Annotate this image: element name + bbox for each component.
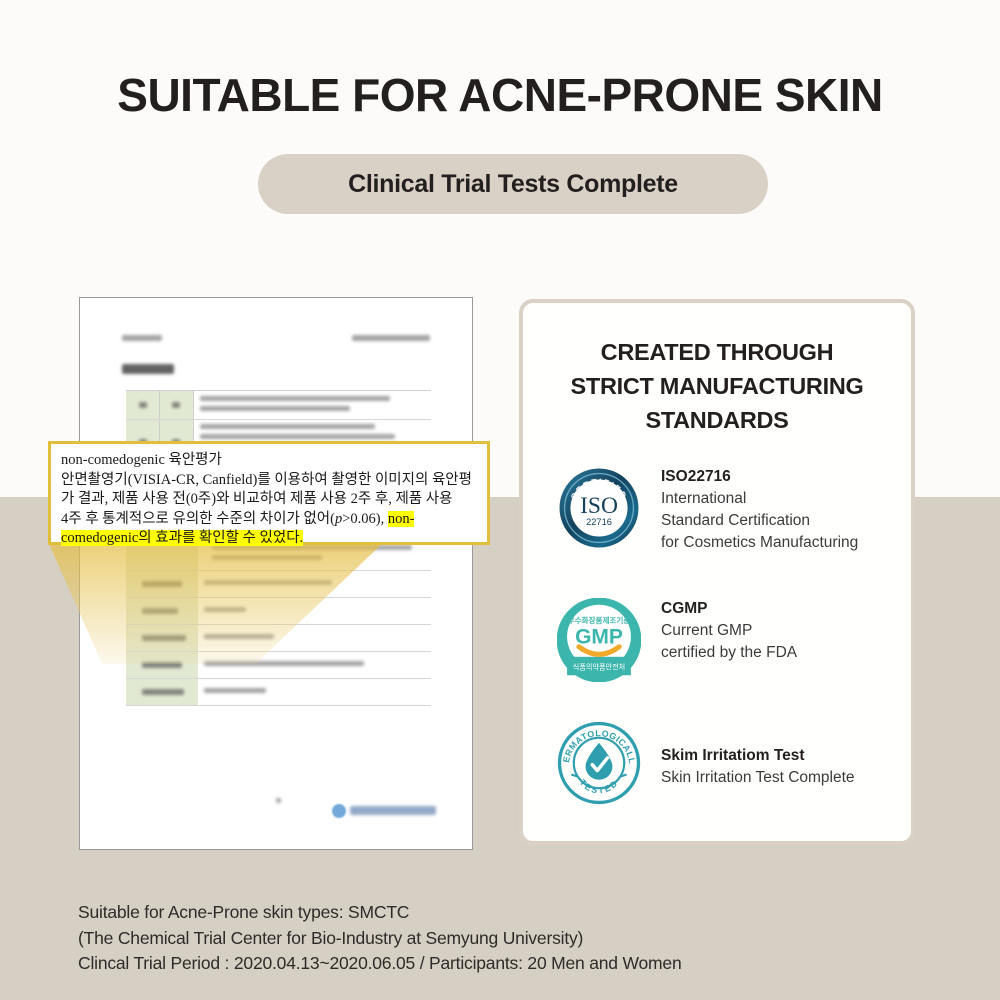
table-cell-label	[160, 391, 194, 419]
certification-item-dermatological: DERMATOLOGICALLY TESTED Skim Irritatiom …	[557, 721, 855, 805]
callout-box: non-comedogenic 육안평가 안면촬영기(VISIA-CR, Can…	[48, 441, 490, 545]
status-badge: Clinical Trial Tests Complete	[258, 154, 768, 214]
callout-line-2: 안면촬영기(VISIA-CR, Canfield)를 이용하여 촬영한 이미지의…	[61, 471, 477, 491]
callout-line-3: 가 결과, 제품 사용 전(0주)와 비교하여 제품 사용 2주 후, 제품 사…	[61, 490, 477, 510]
certification-desc-line: Skin Irritation Test Complete	[661, 767, 855, 789]
manufacturing-standards-panel: CREATED THROUGH STRICT MANUFACTURING STA…	[519, 299, 915, 845]
certification-desc-line: Standard Certification	[661, 510, 858, 532]
certification-text-cgmp: CGMP Current GMP certified by the FDA	[661, 598, 797, 664]
table-row	[126, 679, 431, 706]
trial-caption: Suitable for Acne-Prone skin types: SMCT…	[78, 900, 681, 977]
table-cell-label	[126, 391, 160, 419]
panel-title-line-2: STRICT MANUFACTURING	[571, 373, 864, 399]
svg-text:ISO: ISO	[580, 493, 618, 519]
svg-text:GMP: GMP	[575, 625, 623, 648]
cgmp-badge: 우수화장품제조기준 GMP 식품의약품안전처	[557, 598, 641, 682]
certification-title: Skim Irritatiom Test	[661, 745, 855, 767]
page-title: SUITABLE FOR ACNE-PRONE SKIN	[0, 68, 1000, 122]
caption-line-3: Clincal Trial Period : 2020.04.13~2020.0…	[78, 951, 681, 977]
panel-title-line-3: STANDARDS	[645, 407, 788, 433]
panel-title: CREATED THROUGH STRICT MANUFACTURING STA…	[523, 303, 911, 437]
table-cell-value	[198, 679, 431, 705]
certification-desc-line: for Cosmetics Manufacturing	[661, 532, 858, 554]
doc-page-number	[276, 798, 281, 803]
doc-section-title	[122, 364, 174, 374]
panel-title-line-1: CREATED THROUGH	[601, 339, 834, 365]
doc-organization-stamp	[332, 803, 437, 819]
certification-text-dermatological: Skim Irritatiom Test Skin Irritation Tes…	[661, 721, 855, 789]
svg-text:22716: 22716	[586, 517, 612, 527]
certification-desc-line: International	[661, 488, 858, 510]
certification-title: CGMP	[661, 598, 797, 620]
caption-line-2: (The Chemical Trial Center for Bio-Indus…	[78, 926, 681, 952]
stamp-text	[350, 806, 436, 815]
certification-desc-line: Current GMP	[661, 620, 797, 642]
svg-text:식품의약품안전처: 식품의약품안전처	[573, 662, 625, 671]
certification-title: ISO22716	[661, 466, 858, 488]
stamp-logo-icon	[332, 804, 346, 818]
table-cell-value	[194, 391, 431, 419]
iso-22716-badge: CERTIFIED ISO 22716	[557, 466, 641, 550]
table-row	[126, 391, 431, 420]
certification-desc-line: certified by the FDA	[661, 642, 797, 664]
svg-text:우수화장품제조기준: 우수화장품제조기준	[568, 615, 631, 625]
table-cell-label	[126, 679, 198, 705]
status-badge-label: Clinical Trial Tests Complete	[348, 170, 678, 199]
doc-header-left-text	[122, 335, 162, 341]
callout-pvalue-rest: >0.06),	[342, 511, 388, 527]
callout-line-5: comedogenic의 효과를 확인할 수 있었다.	[61, 529, 477, 549]
callout-line-1: non-comedogenic 육안평가	[61, 451, 477, 471]
doc-header-right-text	[352, 335, 430, 341]
certification-text-iso: ISO22716 International Standard Certific…	[661, 466, 858, 554]
certification-item-iso: CERTIFIED ISO 22716 ISO22716 Internation…	[557, 466, 858, 554]
svg-text:TESTED: TESTED	[578, 777, 621, 795]
certification-item-cgmp: 우수화장품제조기준 GMP 식품의약품안전처 CGMP Current GMP …	[557, 598, 797, 682]
caption-line-1: Suitable for Acne-Prone skin types: SMCT…	[78, 900, 681, 926]
callout-highlight-1: non-	[388, 511, 415, 527]
dermatologically-tested-badge: DERMATOLOGICALLY TESTED	[557, 721, 641, 805]
callout-line-4-text: 4주 후 통계적으로 유의한 수준의 차이가 없어(	[61, 511, 335, 527]
callout-highlight-2: comedogenic의 효과를 확인할 수 있었다.	[61, 530, 303, 546]
callout-line-4: 4주 후 통계적으로 유의한 수준의 차이가 없어(p>0.06), non-	[61, 510, 477, 530]
